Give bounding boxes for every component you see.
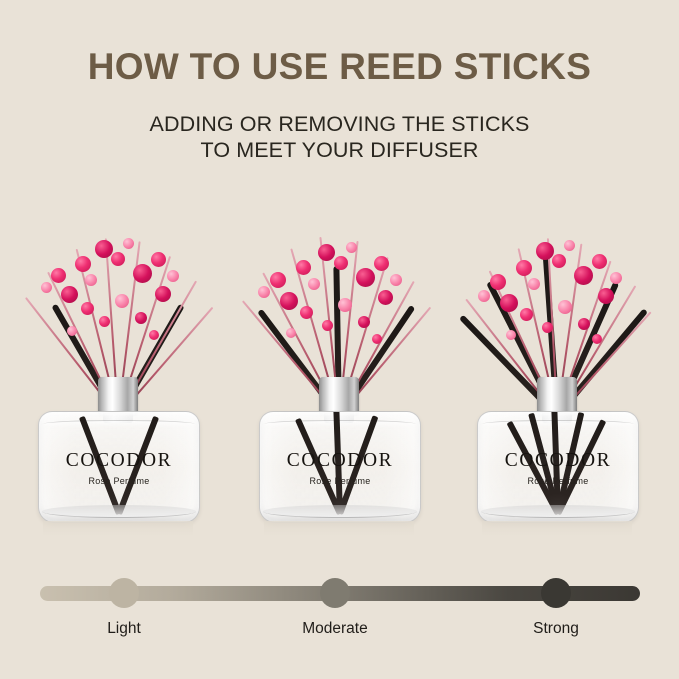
flower-bloom <box>85 274 97 286</box>
bottle-cap <box>319 377 359 415</box>
flower-bloom <box>506 330 516 340</box>
flower-bloom <box>51 268 66 283</box>
flower-bloom <box>81 302 94 315</box>
flower-bloom <box>520 308 533 321</box>
flower-bloom <box>67 326 77 336</box>
flower-bloom <box>322 320 333 331</box>
slider-label-strong: Strong <box>476 620 636 638</box>
flower-bloom <box>296 260 311 275</box>
subtitle-line-1: ADDING OR REMOVING THE STICKS <box>0 111 679 137</box>
bottle-glass: COCODOR Rose Perfume <box>259 411 421 523</box>
flower-bloom <box>528 278 540 290</box>
flower-bloom <box>155 286 171 302</box>
flower-bloom <box>536 242 554 260</box>
flower-bloom <box>149 330 159 340</box>
product-diffuser-light: COCODOR Rose Perfume <box>23 205 213 555</box>
flower-bloom <box>598 288 614 304</box>
flower-bloom <box>318 244 335 261</box>
flower-bloom <box>592 254 607 269</box>
diffuser-bottle: COCODOR Rose Perfume <box>477 413 637 523</box>
bottle-cap <box>537 377 577 415</box>
subtitle-line-2: TO MEET YOUR DIFFUSER <box>0 137 679 163</box>
flower-bloom <box>578 318 590 330</box>
bottle-glass: COCODOR Rose Perfume <box>38 411 200 523</box>
flower-bloom <box>286 328 296 338</box>
slider-stop-moderate[interactable] <box>320 578 350 608</box>
glass-shoulder <box>264 420 416 428</box>
flower-bloom <box>490 274 506 290</box>
glass-base <box>263 505 417 518</box>
bottle-variant-label: Rose Perfume <box>478 476 638 486</box>
flower-bloom <box>558 300 572 314</box>
flower-bloom <box>308 278 320 290</box>
bottle-glass: COCODOR Rose Perfume <box>477 411 639 523</box>
flower-bloom <box>378 290 393 305</box>
flower-bloom <box>346 242 357 253</box>
bottle-brand-label: COCODOR <box>39 450 199 472</box>
flower-bloom <box>270 272 286 288</box>
bottle-variant-label: Rose Perfume <box>39 476 199 486</box>
flower-bloom <box>500 294 518 312</box>
flower-bloom <box>123 238 134 249</box>
flower-bloom <box>592 334 602 344</box>
flower-bloom <box>542 322 553 333</box>
flower-bloom <box>133 264 152 283</box>
slider-stop-strong[interactable] <box>541 578 571 608</box>
page-title: HOW TO USE REED STICKS <box>0 0 679 87</box>
flower-bloom <box>167 270 179 282</box>
glass-base <box>481 505 635 518</box>
bottle-reflection <box>482 521 632 555</box>
intensity-slider[interactable] <box>0 578 679 608</box>
flower-bloom <box>280 292 298 310</box>
bottle-brand-label: COCODOR <box>478 450 638 472</box>
flower-bloom <box>135 312 147 324</box>
flower-bloom <box>574 266 593 285</box>
flower-bloom <box>115 294 129 308</box>
bottle-reflection <box>43 521 193 555</box>
slider-stop-light[interactable] <box>109 578 139 608</box>
flower-bloom <box>610 272 622 284</box>
slider-label-light: Light <box>44 620 204 638</box>
header: HOW TO USE REED STICKS ADDING OR REMOVIN… <box>0 0 679 163</box>
product-row: COCODOR Rose Perfume <box>0 205 679 555</box>
flower-bloom <box>95 240 113 258</box>
flower-bloom <box>374 256 389 271</box>
slider-label-moderate: Moderate <box>255 620 415 638</box>
slider-label-row: Light Moderate Strong <box>0 620 679 644</box>
product-diffuser-moderate: COCODOR Rose Perfume <box>244 205 434 555</box>
flower-bloom <box>41 282 52 293</box>
diffuser-bottle: COCODOR Rose Perfume <box>259 413 419 523</box>
page-subtitle: ADDING OR REMOVING THE STICKS TO MEET YO… <box>0 87 679 163</box>
bottle-brand-label: COCODOR <box>260 450 420 472</box>
flower-bloom <box>478 290 490 302</box>
glass-base <box>42 505 196 518</box>
flower-bloom <box>552 254 566 268</box>
bottle-reflection <box>264 521 414 555</box>
glass-shoulder <box>43 420 195 428</box>
flower-bloom <box>358 316 370 328</box>
flower-bloom <box>516 260 532 276</box>
flower-bloom <box>111 252 125 266</box>
flower-bloom <box>390 274 402 286</box>
flower-bloom <box>372 334 382 344</box>
flower-bloom <box>61 286 78 303</box>
flower-bloom <box>151 252 166 267</box>
flower-bloom <box>99 316 110 327</box>
flower-bloom <box>258 286 270 298</box>
bottle-cap <box>98 377 138 415</box>
bottle-variant-label: Rose Perfume <box>260 476 420 486</box>
flower-bloom <box>300 306 313 319</box>
flower-bloom <box>75 256 91 272</box>
flower-bloom <box>338 298 352 312</box>
glass-shoulder <box>482 420 634 428</box>
flower-bloom <box>334 256 348 270</box>
product-diffuser-strong: COCODOR Rose Perfume <box>462 205 652 555</box>
infographic-root: HOW TO USE REED STICKS ADDING OR REMOVIN… <box>0 0 679 679</box>
flower-bloom <box>564 240 575 251</box>
diffuser-bottle: COCODOR Rose Perfume <box>38 413 198 523</box>
flower-bloom <box>356 268 375 287</box>
